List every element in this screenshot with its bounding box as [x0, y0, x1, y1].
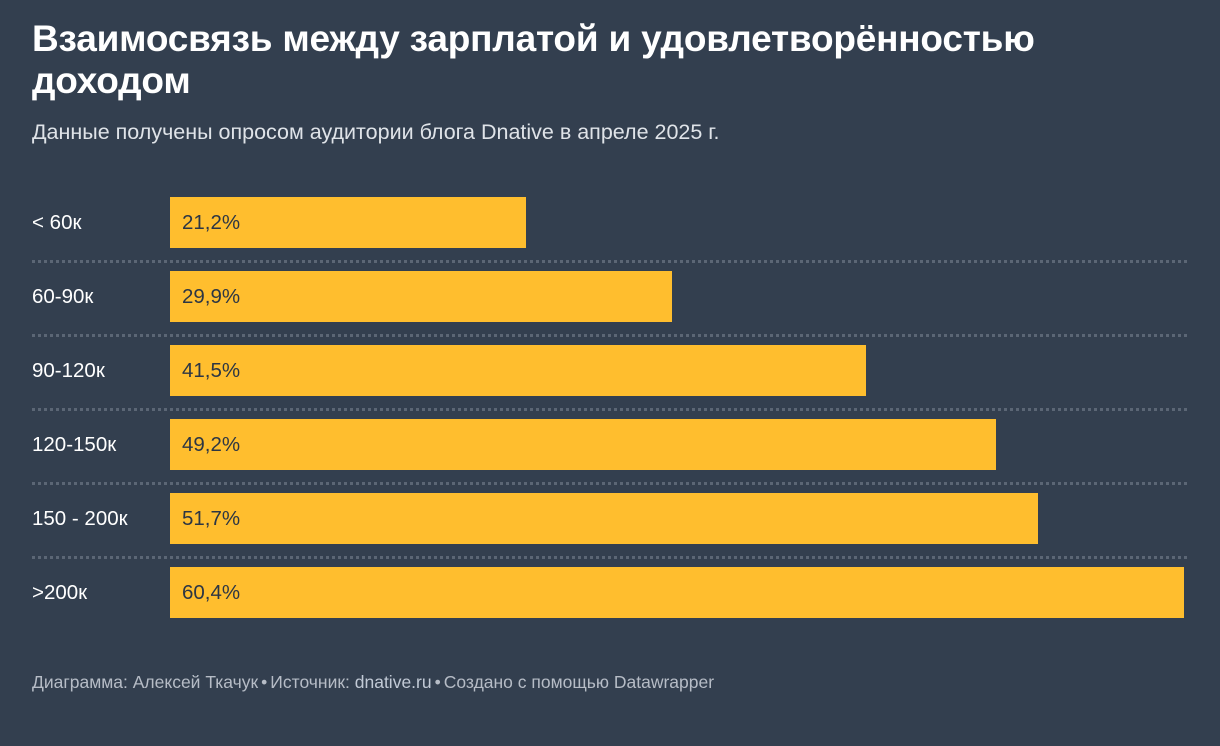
- bar[interactable]: [170, 419, 996, 470]
- bar[interactable]: [170, 567, 1184, 618]
- gridline: [32, 260, 1188, 263]
- bar-track: 51,7%: [170, 493, 1190, 544]
- bar-value-label: 29,9%: [182, 271, 240, 322]
- category-label: 90-120к: [32, 345, 105, 396]
- chart-root: Взаимосвязь между зарплатой и удовлетвор…: [0, 0, 1220, 746]
- bar-value-label: 60,4%: [182, 567, 240, 618]
- bar-track: 41,5%: [170, 345, 1190, 396]
- category-label: 120-150к: [32, 419, 116, 470]
- bar-track: 60,4%: [170, 567, 1190, 618]
- chart-header: Взаимосвязь между зарплатой и удовлетвор…: [32, 18, 1192, 147]
- chart-subtitle: Данные получены опросом аудитории блога …: [32, 119, 1192, 147]
- chart-footer: Диаграмма: Алексей Ткачук•Источник: dnat…: [32, 672, 714, 693]
- category-label: 150 - 200к: [32, 493, 128, 544]
- created-with-credit: Создано с помощью Datawrapper: [444, 672, 714, 692]
- bar-value-label: 21,2%: [182, 197, 240, 248]
- bar-value-label: 51,7%: [182, 493, 240, 544]
- bar-track: 29,9%: [170, 271, 1190, 322]
- bar[interactable]: [170, 493, 1038, 544]
- footer-separator: •: [432, 672, 444, 692]
- chart-row: >200к 60,4%: [0, 556, 1220, 630]
- bar-track: 21,2%: [170, 197, 1190, 248]
- bar[interactable]: [170, 271, 672, 322]
- bar-track: 49,2%: [170, 419, 1190, 470]
- gridline: [32, 408, 1188, 411]
- chart-row: 120-150к 49,2%: [0, 408, 1220, 482]
- source-link[interactable]: dnative.ru: [355, 672, 432, 692]
- chart-row: 60-90к 29,9%: [0, 260, 1220, 334]
- gridline: [32, 556, 1188, 559]
- category-label: >200к: [32, 567, 87, 618]
- gridline: [32, 334, 1188, 337]
- chart-plot-area: < 60к 21,2% 60-90к 29,9% 90-120к 41,5%: [0, 186, 1220, 641]
- bar[interactable]: [170, 345, 866, 396]
- page-title: Взаимосвязь между зарплатой и удовлетвор…: [32, 18, 1192, 102]
- chart-row: < 60к 21,2%: [0, 186, 1220, 260]
- chart-row: 150 - 200к 51,7%: [0, 482, 1220, 556]
- gridline: [32, 482, 1188, 485]
- category-label: < 60к: [32, 197, 81, 248]
- category-label: 60-90к: [32, 271, 93, 322]
- source-prefix: Источник:: [270, 672, 350, 692]
- chart-row: 90-120к 41,5%: [0, 334, 1220, 408]
- footer-separator: •: [258, 672, 270, 692]
- bar-value-label: 49,2%: [182, 419, 240, 470]
- bar-value-label: 41,5%: [182, 345, 240, 396]
- chart-credit: Диаграмма: Алексей Ткачук: [32, 672, 258, 692]
